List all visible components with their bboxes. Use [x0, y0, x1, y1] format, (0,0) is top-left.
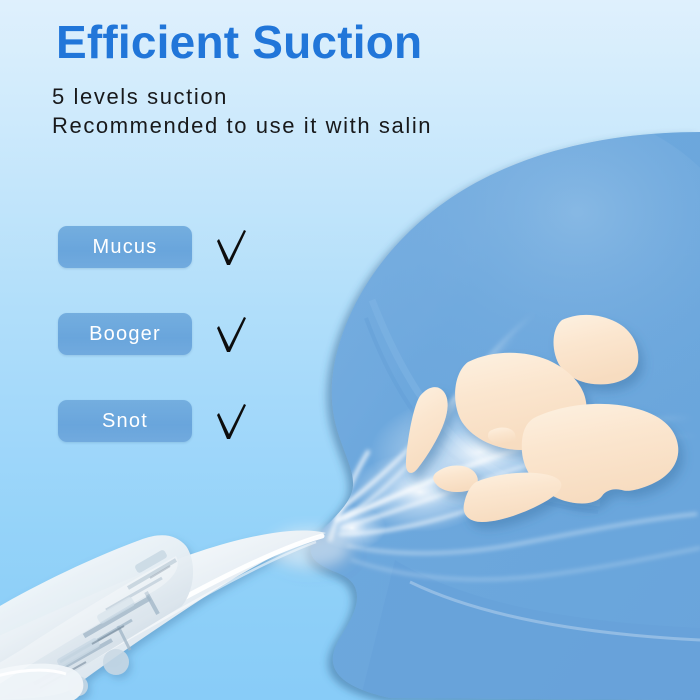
badge-mucus[interactable]: Mucus [58, 226, 192, 268]
checkmark-icon [214, 314, 248, 354]
subtitle-block: 5 levels suction Recommended to use it w… [52, 82, 432, 140]
subtitle-line-1: 5 levels suction [52, 82, 432, 111]
feature-row-mucus: Mucus [58, 226, 248, 268]
page-title: Efficient Suction [56, 18, 422, 66]
badge-booger[interactable]: Booger [58, 313, 192, 355]
mucus-blobs [406, 315, 678, 522]
badge-snot-label: Snot [102, 410, 148, 433]
feature-row-booger: Booger [58, 313, 248, 355]
subtitle-line-2: Recommended to use it with salin [52, 111, 432, 140]
badge-mucus-label: Mucus [93, 236, 158, 259]
badge-booger-label: Booger [89, 323, 161, 346]
suction-airflow-streaks [318, 314, 700, 579]
badge-snot[interactable]: Snot [58, 400, 192, 442]
checkmark-icon [214, 227, 248, 267]
head-silhouette [311, 132, 700, 700]
checkmark-icon [214, 401, 248, 441]
feature-row-snot: Snot [58, 400, 248, 442]
product-feature-poster: Efficient Suction 5 levels suction Recom… [0, 0, 700, 700]
nasal-aspirator-nozzle [0, 528, 350, 700]
